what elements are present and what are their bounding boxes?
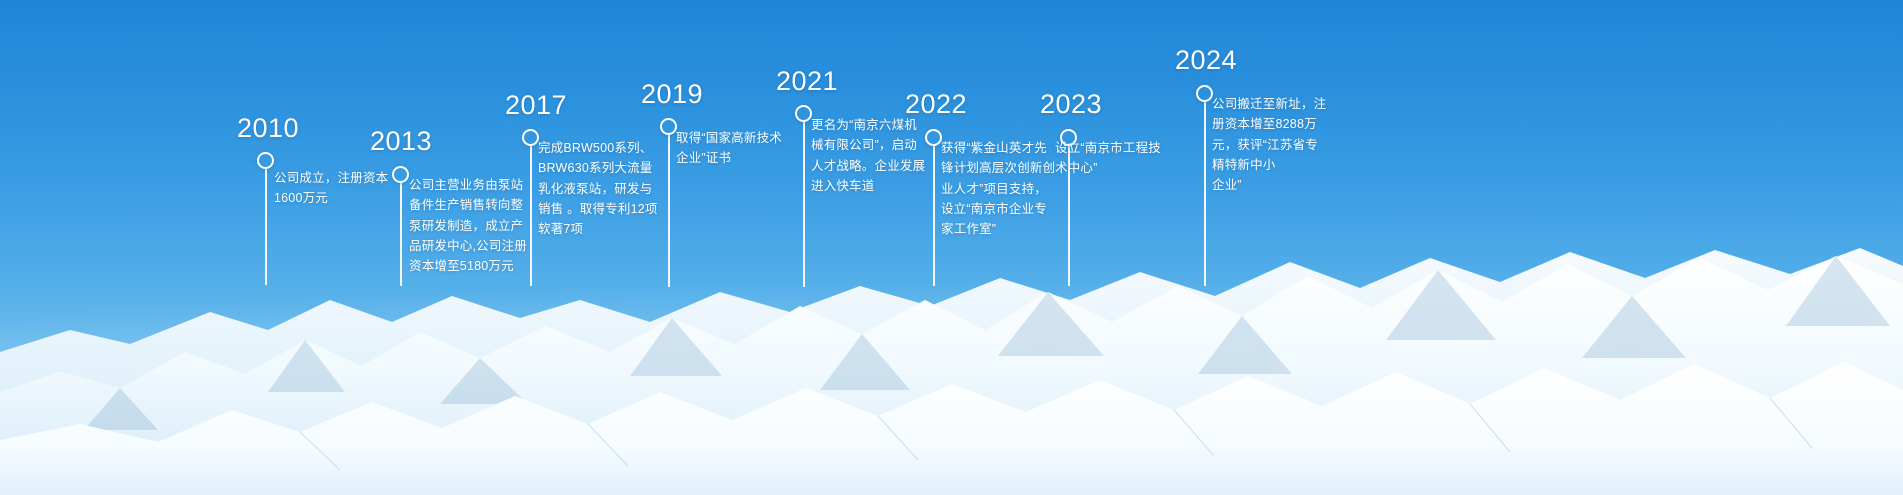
- milestone-stem: [265, 169, 267, 285]
- milestone-description: 取得“国家高新技术 企业”证书: [676, 128, 798, 169]
- milestone-marker: [925, 129, 942, 146]
- milestone-year: 2017: [505, 90, 567, 121]
- milestone-year: 2023: [1040, 89, 1102, 120]
- milestone-description: 设立“南京市工程技 术中心”: [1055, 138, 1185, 179]
- milestone-description: 公司搬迁至新址，注 册资本增至8288万 元，获评“江苏省专 精特新中小 企业”: [1212, 94, 1340, 195]
- milestone-marker: [795, 105, 812, 122]
- milestone-year: 2021: [776, 66, 838, 97]
- milestone-stem: [668, 135, 670, 287]
- milestone-stem: [530, 146, 532, 286]
- milestone-description: 获得“紫金山英才先 锋计划高层次创新创 业人才”项目支持， 设立“南京市企业专 …: [941, 138, 1063, 239]
- milestone-description: 更名为“南京六煤机 械有限公司”，启动 人才战略。企业发展 进入快车道: [811, 115, 933, 196]
- milestone-year: 2022: [905, 89, 967, 120]
- milestone-year: 2013: [370, 126, 432, 157]
- milestone-marker: [1196, 85, 1213, 102]
- milestone-description: 公司成立，注册资本 1600万元: [274, 168, 396, 209]
- milestone-marker: [257, 152, 274, 169]
- milestone-marker: [660, 118, 677, 135]
- milestone-stem: [1204, 102, 1206, 286]
- milestone-stem: [400, 183, 402, 286]
- milestone-description: 公司主营业务由泵站 备件生产销售转向整 泵研发制造，成立产 品研发中心,公司注册…: [409, 175, 531, 276]
- milestone-stem: [803, 122, 805, 287]
- milestone-year: 2019: [641, 79, 703, 110]
- milestone-year: 2024: [1175, 45, 1237, 76]
- milestone-marker: [522, 129, 539, 146]
- milestone-stem: [933, 146, 935, 286]
- timeline: 2010公司成立，注册资本 1600万元2013公司主营业务由泵站 备件生产销售…: [0, 0, 1903, 495]
- milestone-marker: [392, 166, 409, 183]
- milestone-year: 2010: [237, 113, 299, 144]
- milestone-description: 完成BRW500系列、 BRW630系列大流量 乳化液泵站，研发与 销售 。取得…: [538, 138, 666, 239]
